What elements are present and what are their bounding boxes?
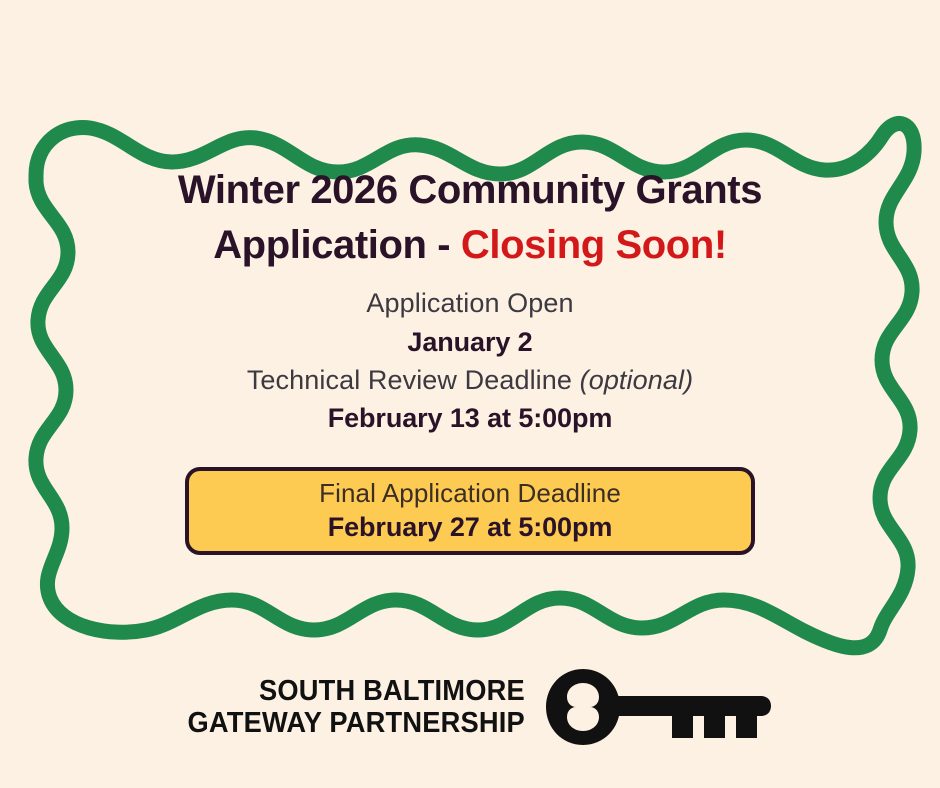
headline-line-2: Application - Closing Soon!	[110, 218, 830, 273]
schedule-block: Application Open January 2 Technical Rev…	[90, 284, 850, 437]
grant-announcement-poster: Winter 2026 Community Grants Application…	[0, 0, 940, 788]
technical-review-date: February 13 at 5:00pm	[90, 399, 850, 437]
technical-review-label: Technical Review Deadline (optional)	[90, 361, 850, 399]
technical-review-optional-note: (optional)	[580, 365, 694, 395]
final-deadline-callout: Final Application Deadline February 27 a…	[185, 467, 755, 555]
headline-accent-closing-soon: Closing Soon!	[461, 223, 727, 267]
logo-wordmark: SOUTH BALTIMORE GATEWAY PARTNERSHIP	[187, 675, 524, 740]
logo-line-2: GATEWAY PARTNERSHIP	[187, 707, 524, 739]
application-open-date: January 2	[90, 323, 850, 361]
page-title: Winter 2026 Community Grants Application…	[110, 163, 830, 273]
final-deadline-label: Final Application Deadline	[319, 477, 621, 510]
organization-logo: SOUTH BALTIMORE GATEWAY PARTNERSHIP	[0, 666, 940, 748]
headline-line-2-prefix: Application -	[213, 223, 461, 267]
application-open-label: Application Open	[90, 284, 850, 322]
headline-line-1: Winter 2026 Community Grants	[110, 163, 830, 218]
technical-review-label-text: Technical Review Deadline	[247, 365, 580, 395]
final-deadline-date: February 27 at 5:00pm	[328, 510, 613, 545]
logo-line-1: SOUTH BALTIMORE	[259, 675, 525, 707]
key-icon	[542, 666, 774, 748]
